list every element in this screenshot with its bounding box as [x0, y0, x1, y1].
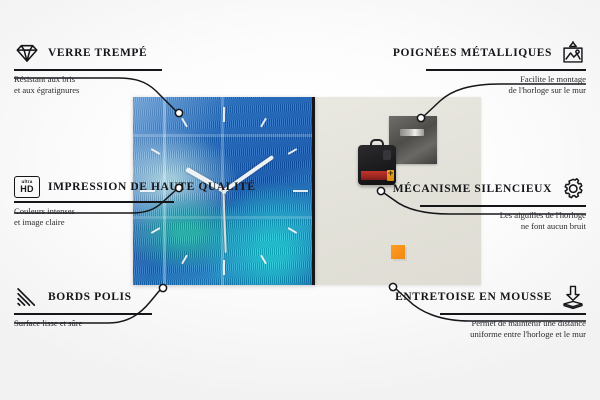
callout-title: ENTRETOISE EN MOUSSE: [395, 290, 552, 304]
callout-title: BORDS POLIS: [48, 290, 132, 304]
polished-edges-icon: [14, 284, 40, 310]
clock-tick: [223, 107, 225, 191]
metal-hanger-plate: [389, 116, 437, 164]
callout-desc: Couleurs intenses et image claire: [14, 206, 184, 229]
callout-entretoise-en-mousse: ENTRETOISE EN MOUSSE Permet de maintenir…: [440, 284, 586, 341]
callout-rule: [14, 69, 162, 71]
infographic-canvas: VERRE TREMPÉ Résistant aux bris et aux é…: [0, 0, 600, 400]
callout-rule: [420, 205, 586, 207]
movement-bail: [370, 139, 384, 148]
hanging-picture-frame-icon: [560, 40, 586, 66]
ultra-hd-icon: ultra HD: [14, 176, 40, 198]
callout-desc: Facilite le montage de l'horloge sur le …: [426, 74, 586, 97]
callout-poignees-metalliques: POIGNÉES MÉTALLIQUES Facilite le montage…: [426, 40, 586, 97]
movement-knob: [383, 150, 391, 160]
foam-spacer-arrow-icon: [560, 284, 586, 310]
callout-rule: [14, 313, 152, 315]
foam-spacer: [391, 245, 405, 259]
clock-movement: [358, 145, 396, 185]
callout-desc: Surface lisse et sûre: [14, 318, 164, 330]
callout-impression-haute-qualite: ultra HD IMPRESSION DE HAUTE QUALITÉ Cou…: [14, 176, 184, 229]
callout-title: MÉCANISME SILENCIEUX: [393, 182, 552, 196]
gear-icon: [560, 176, 586, 202]
battery: [361, 171, 390, 180]
callout-rule: [14, 201, 174, 203]
callout-rule: [426, 69, 586, 71]
battery-plus-terminal: [387, 170, 394, 181]
callout-bords-polis: BORDS POLIS Surface lisse et sûre: [14, 284, 164, 329]
callout-desc: Les aiguilles de l'horloge ne font aucun…: [420, 210, 586, 233]
callout-title: POIGNÉES MÉTALLIQUES: [393, 46, 552, 60]
callout-verre-trempe: VERRE TREMPÉ Résistant aux bris et aux é…: [14, 40, 174, 97]
callout-title: IMPRESSION DE HAUTE QUALITÉ: [48, 180, 256, 194]
ultra-hd-main-label: HD: [20, 185, 33, 194]
callout-mecanisme-silencieux: MÉCANISME SILENCIEUX Les aiguilles de l'…: [420, 176, 586, 233]
callout-rule: [440, 313, 586, 315]
callout-desc: Résistant aux bris et aux égratignures: [14, 74, 174, 97]
hanger-slot: [400, 129, 424, 136]
callout-desc: Permet de maintenir une distance uniform…: [440, 318, 586, 341]
diamond-icon: [14, 40, 40, 66]
callout-title: VERRE TREMPÉ: [48, 46, 147, 60]
